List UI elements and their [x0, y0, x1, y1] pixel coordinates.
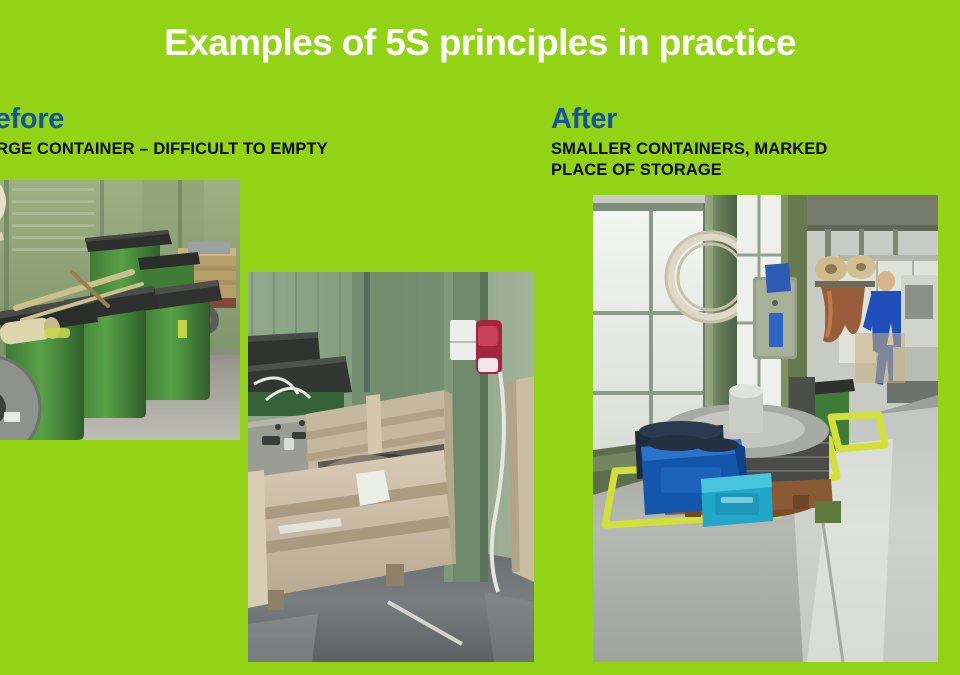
photo-before-crate	[248, 272, 534, 662]
after-heading: After	[551, 103, 617, 135]
before-heading: Before	[0, 103, 64, 135]
after-subtitle: Smaller containers, marked place of stor…	[551, 139, 827, 181]
page-title: Examples of 5S principles in practice	[0, 20, 960, 66]
photo-before-bins	[0, 180, 240, 440]
photo-after-workshop	[593, 195, 938, 662]
before-subtitle: Large container – difficult to empty	[0, 139, 328, 160]
slide-canvas: Examples of 5S principles in practice Be…	[0, 0, 960, 675]
